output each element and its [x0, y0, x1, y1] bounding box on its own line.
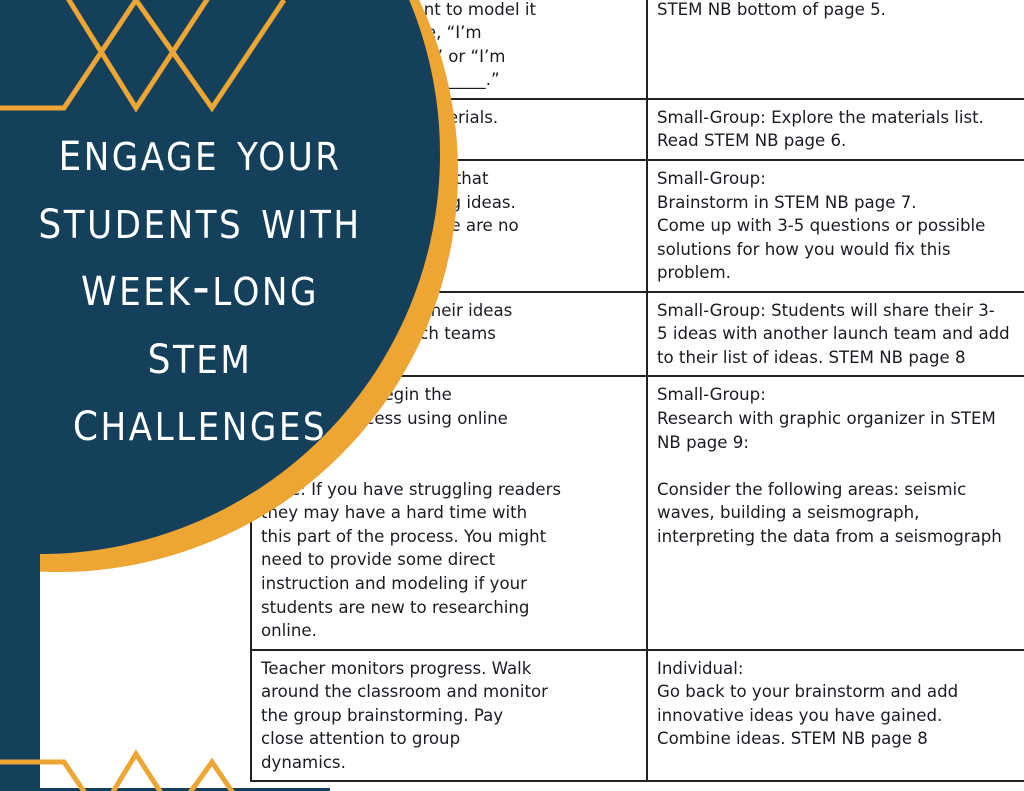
table-row: Teacher monitors progress. Walk around t… — [251, 650, 1024, 782]
headline-line: students with — [0, 186, 400, 254]
headline-overlay: Engage your students with week-long STEM… — [0, 118, 400, 456]
teacher-notes-cell: Teacher monitors progress. Walk around t… — [251, 650, 647, 782]
student-task-cell: Small-Group: Students will share their 3… — [647, 292, 1024, 377]
chevron-decoration-bottom-icon — [0, 672, 294, 791]
student-task-cell: Small-Group: Research with graphic organ… — [647, 376, 1024, 649]
headline-line: challenges — [0, 388, 400, 456]
student-task-cell: Small-Group: Explore the materials list.… — [647, 99, 1024, 160]
chevron-decoration-top-icon — [0, 0, 294, 122]
headline-line: STEM — [0, 321, 400, 389]
student-task-cell: Small-Group: Brainstorm in STEM NB page … — [647, 160, 1024, 292]
headline-line: Engage your — [0, 118, 400, 186]
headline-line: week-long — [0, 253, 400, 321]
pin-graphic-canvas: questions that connect to the topic. You… — [0, 0, 1024, 791]
student-task-cell: Individual: Go back to your brainstorm a… — [647, 650, 1024, 782]
student-task-cell: Create a list of inquiry questions STEM … — [647, 0, 1024, 99]
